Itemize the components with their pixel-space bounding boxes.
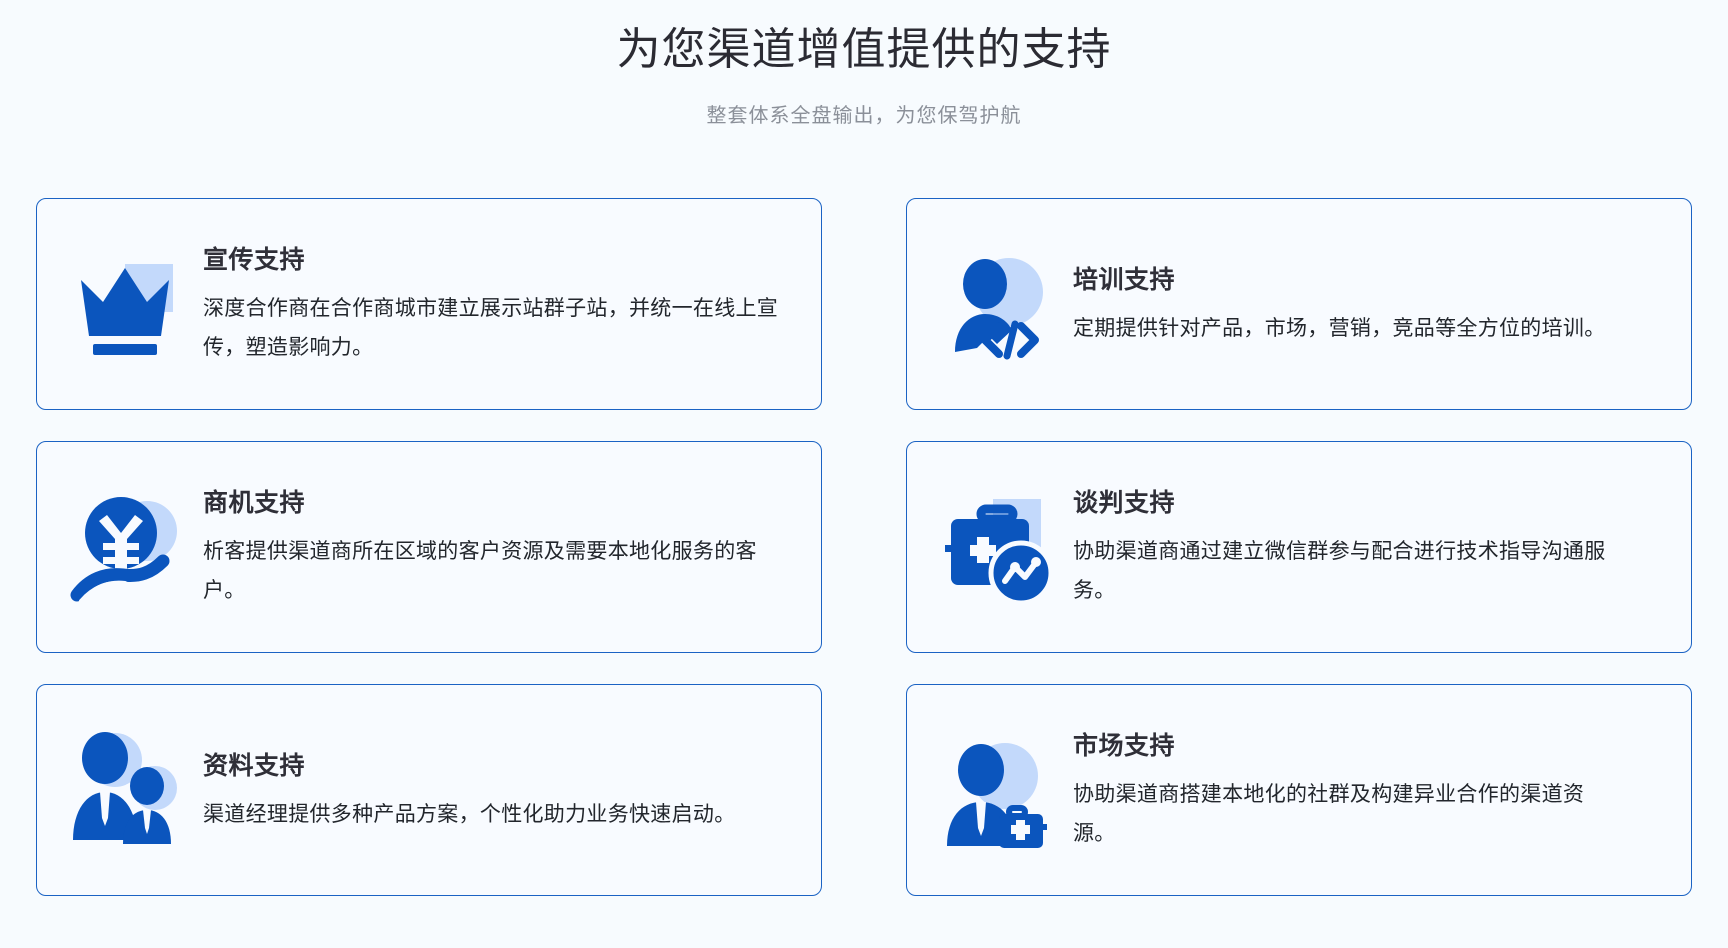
page-title: 为您渠道增值提供的支持 bbox=[0, 22, 1728, 77]
card-text-block: 培训支持 定期提供针对产品，市场，营销，竞品等全方位的培训。 bbox=[1073, 260, 1623, 349]
card-text-block: 市场支持 协助渠道商搭建本地化的社群及构建异业合作的渠道资源。 bbox=[1073, 726, 1623, 854]
card-description: 定期提供针对产品，市场，营销，竞品等全方位的培训。 bbox=[1073, 310, 1613, 349]
card-description: 析客提供渠道商所在区域的客户资源及需要本地化服务的客户。 bbox=[203, 533, 763, 611]
briefcase-chart-icon bbox=[937, 483, 1065, 611]
hand-yuan-icon bbox=[67, 483, 195, 611]
card-description: 深度合作商在合作商城市建立展示站群子站，并统一在线上宣传，塑造影响力。 bbox=[203, 290, 783, 368]
person-briefcase-icon bbox=[937, 726, 1065, 854]
card-description: 协助渠道商通过建立微信群参与配合进行技术指导沟通服务。 bbox=[1073, 533, 1613, 611]
card-text-block: 资料支持 渠道经理提供多种产品方案，个性化助力业务快速启动。 bbox=[203, 746, 797, 835]
page-subtitle: 整套体系全盘输出，为您保驾护航 bbox=[0, 99, 1728, 128]
support-card-negotiation[interactable]: 谈判支持 协助渠道商通过建立微信群参与配合进行技术指导沟通服务。 bbox=[906, 441, 1692, 653]
card-text-block: 宣传支持 深度合作商在合作商城市建立展示站群子站，并统一在线上宣传，塑造影响力。 bbox=[203, 240, 793, 368]
person-code-icon bbox=[937, 240, 1065, 368]
support-card-publicity[interactable]: 宣传支持 深度合作商在合作商城市建立展示站群子站，并统一在线上宣传，塑造影响力。 bbox=[36, 198, 822, 410]
section-header: 为您渠道增值提供的支持 整套体系全盘输出，为您保驾护航 bbox=[0, 0, 1728, 128]
two-people-icon bbox=[67, 726, 195, 854]
card-title: 培训支持 bbox=[1073, 260, 1613, 296]
card-title: 谈判支持 bbox=[1073, 483, 1613, 519]
card-text-block: 谈判支持 协助渠道商通过建立微信群参与配合进行技术指导沟通服务。 bbox=[1073, 483, 1623, 611]
support-card-marketing[interactable]: 市场支持 协助渠道商搭建本地化的社群及构建异业合作的渠道资源。 bbox=[906, 684, 1692, 896]
card-title: 宣传支持 bbox=[203, 240, 783, 276]
card-title: 资料支持 bbox=[203, 746, 787, 782]
support-card-business-opportunity[interactable]: 商机支持 析客提供渠道商所在区域的客户资源及需要本地化服务的客户。 bbox=[36, 441, 822, 653]
support-card-materials[interactable]: 资料支持 渠道经理提供多种产品方案，个性化助力业务快速启动。 bbox=[36, 684, 822, 896]
card-text-block: 商机支持 析客提供渠道商所在区域的客户资源及需要本地化服务的客户。 bbox=[203, 483, 773, 611]
card-title: 市场支持 bbox=[1073, 726, 1613, 762]
card-description: 渠道经理提供多种产品方案，个性化助力业务快速启动。 bbox=[203, 796, 787, 835]
card-description: 协助渠道商搭建本地化的社群及构建异业合作的渠道资源。 bbox=[1073, 776, 1613, 854]
crown-icon bbox=[67, 240, 195, 368]
support-section: 为您渠道增值提供的支持 整套体系全盘输出，为您保驾护航 宣传支持 深度合作商在合… bbox=[0, 0, 1728, 948]
support-cards-grid: 宣传支持 深度合作商在合作商城市建立展示站群子站，并统一在线上宣传，塑造影响力。… bbox=[36, 198, 1692, 896]
support-card-training[interactable]: 培训支持 定期提供针对产品，市场，营销，竞品等全方位的培训。 bbox=[906, 198, 1692, 410]
card-title: 商机支持 bbox=[203, 483, 763, 519]
